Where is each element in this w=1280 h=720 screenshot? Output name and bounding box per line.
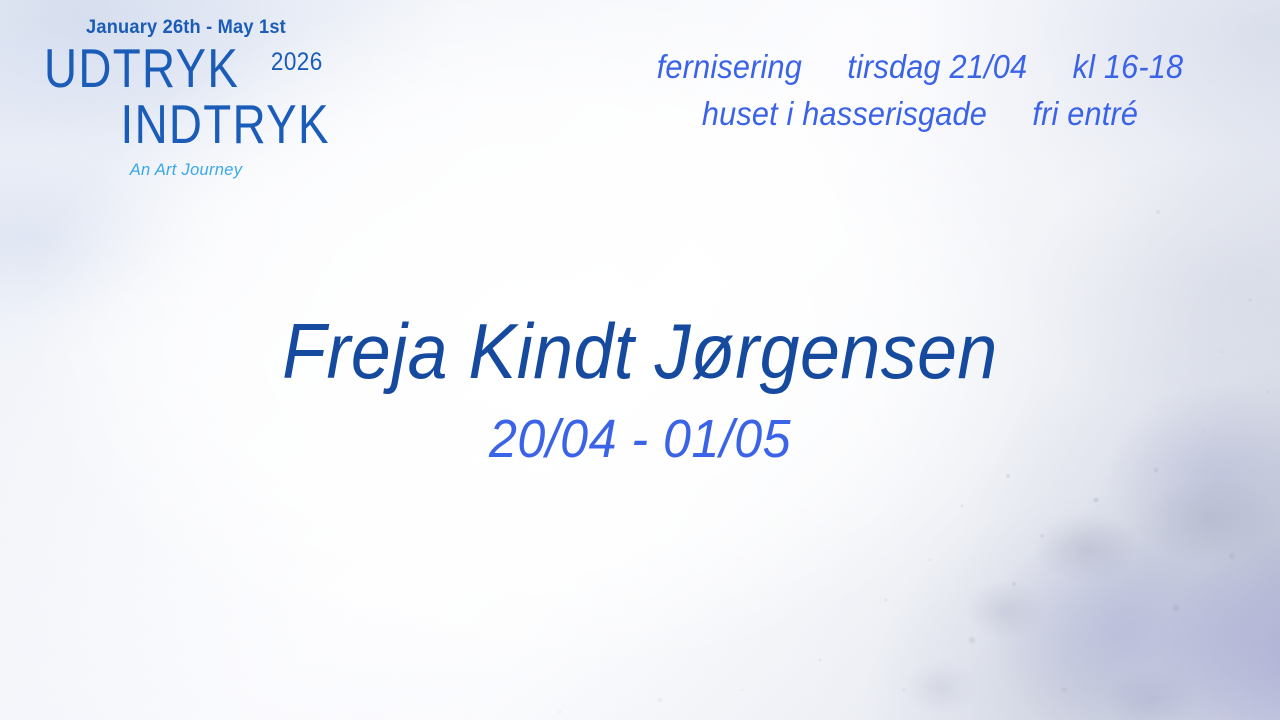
- festival-logo-block: January 26th - May 1st UDTRYK2026 INDTRY…: [36, 18, 336, 178]
- logo-word-top-row: UDTRYK2026: [36, 43, 336, 95]
- artist-name: Freja Kindt Jørgensen: [51, 312, 1229, 390]
- exhibition-dates: 20/04 - 01/05: [45, 412, 1235, 466]
- event-opening-day: tirsdag 21/04: [847, 48, 1027, 85]
- logo-year: 2026: [271, 50, 323, 75]
- event-details-line-2: huset i hasserisgade fri entré: [622, 91, 1217, 138]
- event-venue: huset i hasserisgade: [702, 95, 987, 132]
- event-admission: fri entré: [1032, 95, 1138, 132]
- event-details-block: fernisering tirsdag 21/04 kl 16-18 huset…: [600, 44, 1240, 138]
- festival-date-range: January 26th - May 1st: [42, 18, 330, 37]
- logo-tagline: An Art Journey: [41, 161, 332, 178]
- logo-word-indtryk: INDTRYK: [121, 97, 330, 152]
- logo-word-udtryk: UDTRYK: [44, 41, 239, 96]
- event-opening-label: fernisering: [657, 48, 802, 85]
- event-opening-time: kl 16-18: [1073, 48, 1184, 85]
- logo-word-bottom-row: INDTRYK: [36, 99, 336, 151]
- exhibition-poster: January 26th - May 1st UDTRYK2026 INDTRY…: [0, 0, 1280, 720]
- main-title-block: Freja Kindt Jørgensen 20/04 - 01/05: [0, 312, 1280, 466]
- event-details-line-1: fernisering tirsdag 21/04 kl 16-18: [622, 44, 1217, 91]
